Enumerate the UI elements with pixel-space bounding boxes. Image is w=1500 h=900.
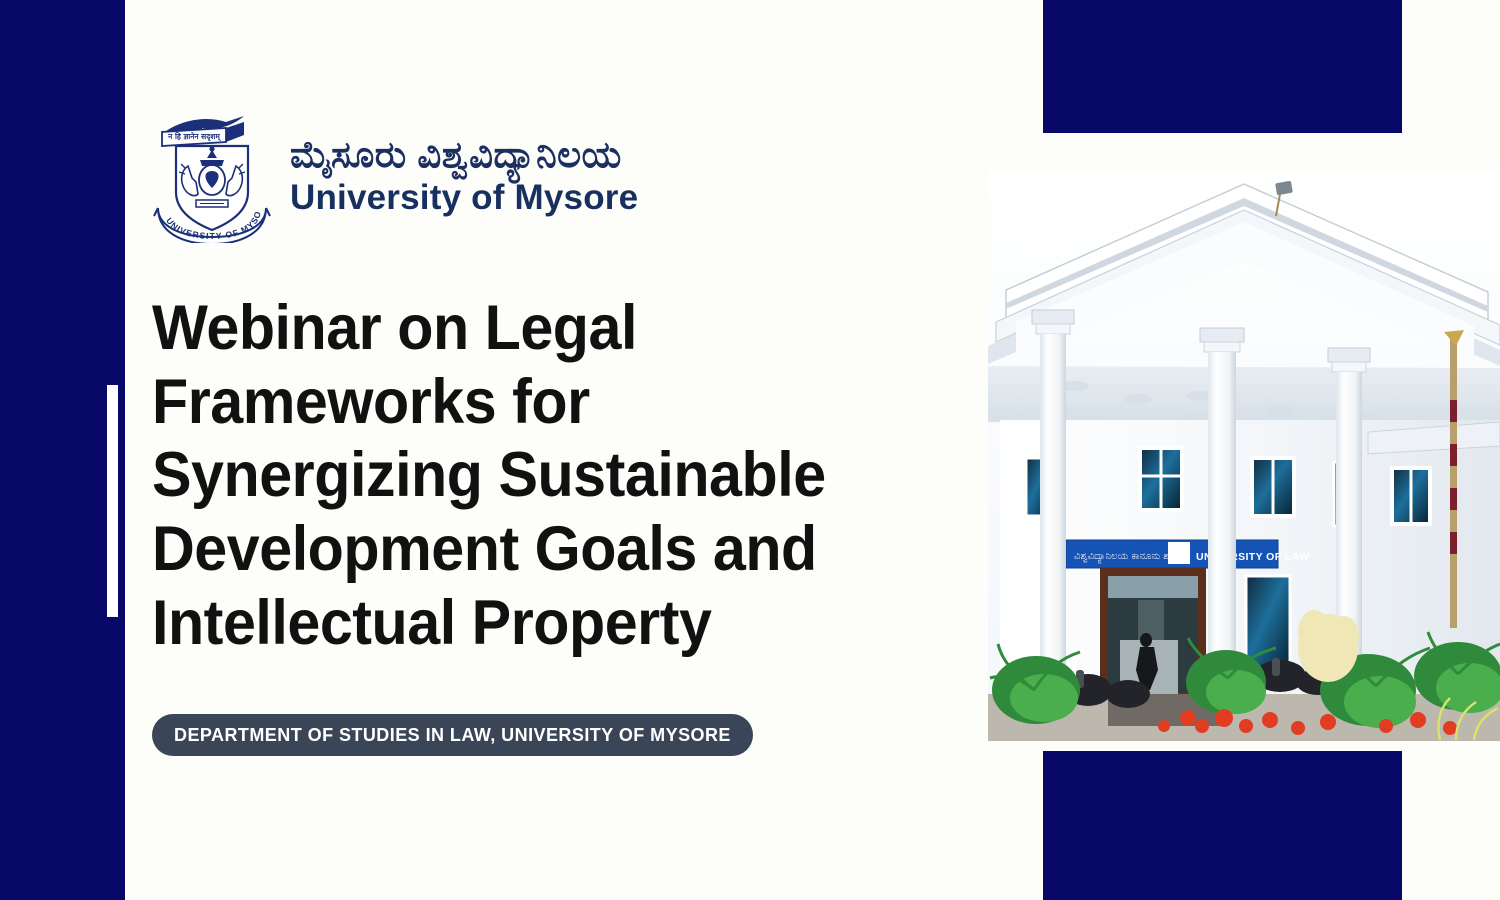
- white-accent-line: [107, 385, 118, 617]
- page-title-line: Webinar on Legal: [152, 292, 932, 366]
- law-school-building-photo: ವಿಶ್ವವಿದ್ಯಾನಿಲಯ ಕಾನೂನು ಶಾಲೆ UNIVERSITY O…: [988, 170, 1500, 741]
- university-logo-lockup: न हि ज्ञानेन सदृशम् UNIVERSITY OF MYSORE…: [152, 108, 638, 243]
- bottom-right-navy-block: [1043, 751, 1402, 900]
- svg-text:न हि ज्ञानेन सदृशम्: न हि ज्ञानेन सदृशम्: [167, 132, 222, 142]
- university-name-english: University of Mysore: [290, 179, 638, 218]
- page-title-line: Intellectual Property: [152, 587, 932, 661]
- university-name-block: ಮೈಸೂರು ವಿಶ್ವವಿದ್ಯಾನಿಲಯ University of Mys…: [290, 134, 638, 217]
- page-title-line: Synergizing Sustainable: [152, 439, 932, 513]
- page-title-line: Frameworks for: [152, 366, 932, 440]
- page-title: Webinar on Legal Frameworks for Synergiz…: [152, 292, 932, 661]
- page-title-line: Development Goals and: [152, 513, 932, 587]
- university-crest-icon: न हि ज्ञानेन सदृशम् UNIVERSITY OF MYSORE: [152, 108, 272, 243]
- svg-text:ವಿಶ್ವವಿದ್ಯಾನಿಲಯ ಕಾನೂನು ಶಾಲೆ: ವಿಶ್ವವಿದ್ಯಾನಿಲಯ ಕಾನೂನು ಶಾಲೆ: [1074, 551, 1180, 563]
- top-right-navy-block: [1043, 0, 1402, 133]
- department-badge: DEPARTMENT OF STUDIES IN LAW, UNIVERSITY…: [152, 714, 753, 756]
- university-name-kannada: ಮೈಸೂರು ವಿಶ್ವವಿದ್ಯಾನಿಲಯ: [290, 134, 638, 177]
